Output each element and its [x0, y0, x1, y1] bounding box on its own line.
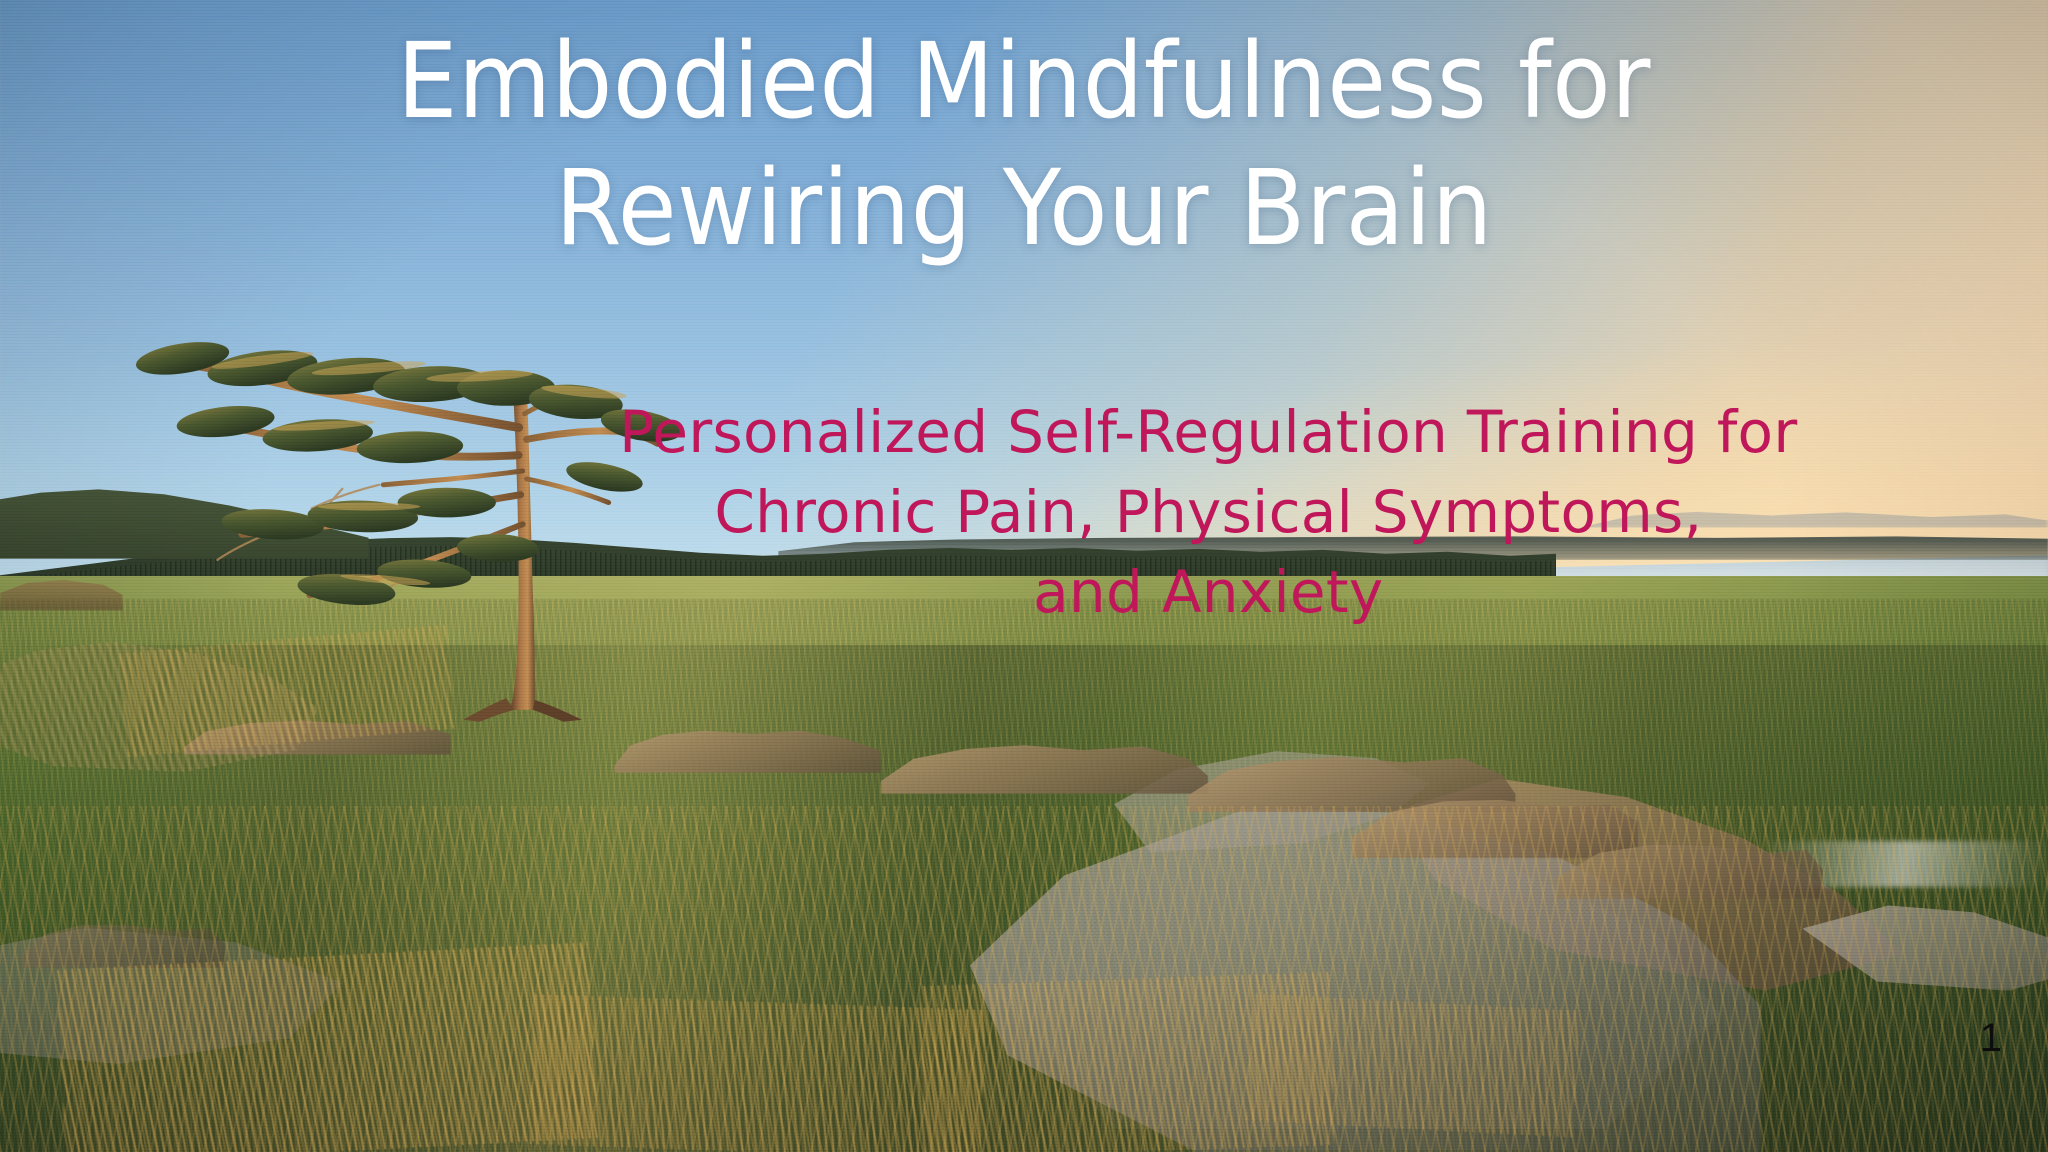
subtitle-line-2: Chronic Pain, Physical Symptoms,	[532, 472, 1884, 552]
slide-subtitle: Personalized Self-Regulation Training fo…	[532, 392, 1884, 632]
slide-text-layer: Embodied Mindfulness for Rewiring Your B…	[0, 0, 2048, 1152]
subtitle-line-1: Personalized Self-Regulation Training fo…	[532, 392, 1884, 472]
page-number: 1	[1980, 1018, 2002, 1058]
subtitle-line-3: and Anxiety	[532, 552, 1884, 632]
title-line-1: Embodied Mindfulness for	[82, 18, 1966, 145]
title-line-2: Rewiring Your Brain	[82, 145, 1966, 272]
slide-title: Embodied Mindfulness for Rewiring Your B…	[82, 18, 1966, 272]
title-slide: Embodied Mindfulness for Rewiring Your B…	[0, 0, 2048, 1152]
